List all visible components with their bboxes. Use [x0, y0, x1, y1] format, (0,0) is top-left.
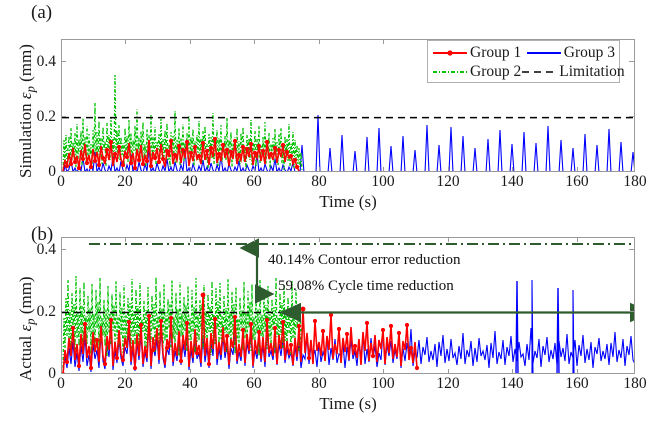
- panel-a-xticklabel-0: 0: [41, 173, 81, 191]
- annotation-cycle-time: 59.08% Cycle time reduction: [278, 278, 454, 295]
- panel-a-xtick-160: [577, 167, 578, 172]
- panel-b-xticklabel-20: 20: [105, 375, 145, 393]
- legend-entry-group-1: Group 1: [432, 44, 526, 62]
- panel-a-ytick-04-right: [629, 61, 634, 62]
- legend-key-limitation: [521, 65, 557, 79]
- panel-b-xtick-top-60: [254, 237, 255, 242]
- legend-row-2: Group 2 Limitation: [432, 62, 615, 81]
- legend-entry-group-2: Group 2: [432, 63, 521, 81]
- panel-a-xtick-0: [61, 167, 62, 172]
- panel-a-xticklabel-180: 180: [615, 173, 655, 191]
- panel-a-xtick-top-20: [125, 39, 126, 44]
- legend-entry-group-3: Group 3: [526, 44, 615, 62]
- panel-a-xticklabel-20: 20: [105, 173, 145, 191]
- panel-a-xticklabel-40: 40: [170, 173, 210, 191]
- legend-key-group-2: [432, 65, 468, 79]
- panel-b-xtick-20: [125, 369, 126, 374]
- panel-a-xtitle: Time (s): [268, 192, 428, 212]
- panel-b-ytick-04: [61, 249, 66, 250]
- panel-b-xtick-120: [448, 369, 449, 374]
- figure-root: (a) Simulation εp (mm): [0, 0, 655, 433]
- legend-label-group-3: Group 3: [564, 44, 615, 62]
- panel-b-ytick-0-right: [629, 373, 634, 374]
- panel-b-xticklabel-40: 40: [170, 375, 210, 393]
- panel-b-ytick-02: [61, 311, 66, 312]
- panel-a: (a) Simulation εp (mm): [0, 0, 655, 216]
- panel-a-xtick-top-60: [254, 39, 255, 44]
- panel-a-ytick-0-right: [629, 171, 634, 172]
- panel-a-ytick-02: [61, 116, 66, 117]
- panel-a-xticklabel-120: 120: [428, 173, 468, 191]
- annotation-contour-error: 40.14% Contour error reduction: [268, 252, 460, 269]
- panel-a-xtick-top-100: [383, 39, 384, 44]
- panel-a-xtick-100: [383, 167, 384, 172]
- panel-a-xtick-40: [190, 167, 191, 172]
- legend-row-1: Group 1 Group 3: [432, 43, 615, 62]
- panel-a-ytick-02-right: [629, 116, 634, 117]
- legend-key-group-3: [526, 46, 562, 60]
- panel-b-xtick-0: [61, 369, 62, 374]
- panel-b-ytick-02-right: [629, 311, 634, 312]
- panel-b-xtick-top-80: [319, 237, 320, 242]
- panel-b-xticklabel-120: 120: [428, 375, 468, 393]
- panel-b-xticklabel-100: 100: [363, 375, 403, 393]
- panel-b-xtick-60: [254, 369, 255, 374]
- panel-a-xtick-140: [512, 167, 513, 172]
- panel-a-ylabel-04: 0.4: [8, 53, 56, 71]
- panel-b-xtick-40: [190, 369, 191, 374]
- legend-key-group-1: [432, 46, 468, 60]
- panel-b-xtick-top-20: [125, 237, 126, 242]
- legend-label-group-1: Group 1: [470, 44, 521, 62]
- panel-b-xticklabel-180: 180: [615, 375, 655, 393]
- panel-b-xticklabel-0: 0: [41, 375, 81, 393]
- panel-b-xtick-80: [319, 369, 320, 374]
- panel-a-ylabel-02: 0.2: [8, 108, 56, 126]
- legend-panel-a: Group 1 Group 3: [427, 40, 620, 83]
- panel-b-xticklabel-160: 160: [557, 375, 597, 393]
- panel-a-ytick-04: [61, 61, 66, 62]
- panel-a-xticklabel-140: 140: [492, 173, 532, 191]
- panel-a-xtick-120: [448, 167, 449, 172]
- panel-a-xtick-top-40: [190, 39, 191, 44]
- panel-b-xtick-top-160: [577, 237, 578, 242]
- legend-label-group-2: Group 2: [470, 63, 521, 81]
- panel-b-xtitle: Time (s): [268, 394, 428, 414]
- panel-b-ylabel-04: 0.4: [8, 241, 56, 259]
- panel-a-xtick-60: [254, 167, 255, 172]
- panel-b-xticklabel-80: 80: [299, 375, 339, 393]
- panel-b-xtick-top-120: [448, 237, 449, 242]
- panel-a-xtick-20: [125, 167, 126, 172]
- panel-b: (b) Actual εp (mm): [0, 216, 655, 433]
- panel-a-xticklabel-160: 160: [557, 173, 597, 191]
- legend-entry-limitation: Limitation: [521, 63, 624, 81]
- panel-a-xticklabel-60: 60: [234, 173, 274, 191]
- panel-b-xtick-top-40: [190, 237, 191, 242]
- panel-a-xtick-80: [319, 167, 320, 172]
- panel-a-label: (a): [31, 2, 52, 24]
- panel-b-ytick-04-right: [629, 249, 634, 250]
- panel-a-xtick-top-80: [319, 39, 320, 44]
- panel-b-xtick-100: [383, 369, 384, 374]
- legend-label-limitation: Limitation: [559, 63, 624, 81]
- panel-b-xtick-160: [577, 369, 578, 374]
- panel-a-xticklabel-80: 80: [299, 173, 339, 191]
- panel-b-xtick-140: [512, 369, 513, 374]
- panel-b-ylabel-02: 0.2: [8, 303, 56, 321]
- panel-b-xticklabel-140: 140: [492, 375, 532, 393]
- panel-a-xticklabel-100: 100: [363, 173, 403, 191]
- panel-b-xticklabel-60: 60: [234, 375, 274, 393]
